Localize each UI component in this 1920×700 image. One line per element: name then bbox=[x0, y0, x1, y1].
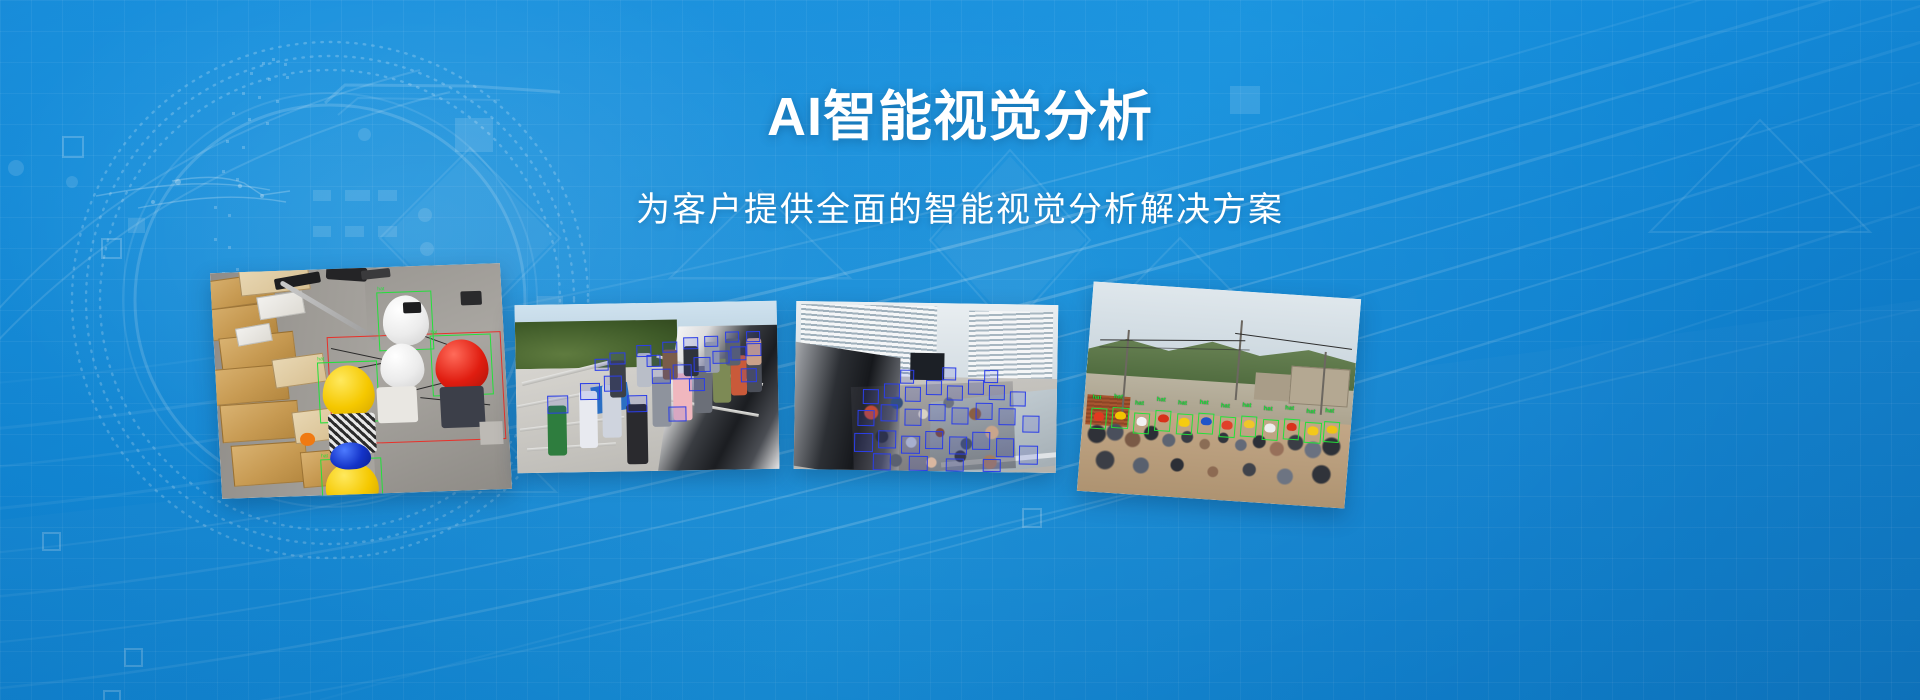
detection-box bbox=[1218, 416, 1236, 438]
face-detection-box bbox=[984, 369, 999, 383]
detection-label: hat bbox=[1178, 401, 1188, 409]
face-detection-box bbox=[741, 368, 757, 382]
station-platform-crowd-photo bbox=[794, 301, 1059, 473]
face-detection-box bbox=[928, 404, 945, 421]
detection-box bbox=[1323, 421, 1341, 443]
face-detection-box bbox=[1019, 446, 1038, 465]
detection-box bbox=[1111, 407, 1129, 429]
face-detection-box bbox=[746, 343, 762, 357]
face-detection-box bbox=[610, 352, 626, 365]
face-detection-box bbox=[662, 341, 678, 353]
face-detection-box bbox=[704, 335, 719, 346]
detection-label: hat bbox=[1135, 400, 1145, 408]
hero-banner: AI智能视觉分析 为客户提供全面的智能视觉分析解决方案 bbox=[0, 0, 1920, 700]
gallery-photo-card-2[interactable] bbox=[515, 301, 780, 474]
face-detection-box bbox=[989, 385, 1005, 400]
detection-box bbox=[1176, 413, 1194, 435]
outdoor-worksite-helmet-photo: hat hat hat hat hat hat hat hat hat hat … bbox=[1077, 281, 1361, 508]
face-detection-box bbox=[668, 406, 687, 421]
face-detection-box bbox=[604, 376, 623, 392]
face-detection-box bbox=[999, 408, 1016, 425]
face-detection-box bbox=[881, 405, 898, 422]
gallery-photo-card-3[interactable] bbox=[794, 301, 1059, 473]
face-detection-box bbox=[1022, 415, 1039, 432]
detection-label: hat bbox=[1156, 397, 1166, 405]
detection-label: hat bbox=[1285, 406, 1295, 414]
face-detection-box bbox=[863, 389, 879, 404]
detection-box bbox=[1133, 413, 1151, 435]
face-detection-box bbox=[712, 350, 729, 364]
face-detection-box bbox=[904, 408, 921, 425]
face-detection-box bbox=[594, 359, 609, 371]
face-detection-box bbox=[972, 431, 991, 450]
face-detection-box bbox=[942, 367, 957, 381]
face-detection-box bbox=[746, 331, 761, 342]
face-detection-box bbox=[646, 355, 661, 367]
photo-frame-2 bbox=[515, 301, 780, 474]
face-detection-box bbox=[872, 453, 891, 470]
photo-frame-3 bbox=[794, 301, 1059, 473]
face-detection-box bbox=[968, 379, 984, 394]
face-detection-box bbox=[926, 380, 942, 395]
face-detection-box bbox=[975, 403, 992, 420]
photo-gallery: hat hat hat hat bbox=[0, 0, 1920, 700]
face-detection-box bbox=[548, 395, 569, 414]
detection-box bbox=[1154, 410, 1172, 432]
face-detection-box bbox=[689, 378, 705, 392]
detection-box bbox=[1197, 413, 1215, 435]
detection-box bbox=[1304, 422, 1322, 444]
detection-label: hat bbox=[1242, 403, 1252, 411]
face-detection-box bbox=[901, 435, 920, 454]
face-detection-box bbox=[905, 387, 921, 402]
face-detection-box bbox=[878, 430, 897, 449]
face-detection-box bbox=[946, 458, 965, 472]
face-detection-box bbox=[725, 332, 740, 343]
face-detection-box bbox=[996, 438, 1015, 457]
face-detection-box bbox=[909, 456, 928, 471]
gallery-photo-card-4[interactable]: hat hat hat hat hat hat hat hat hat hat … bbox=[1077, 281, 1361, 508]
warehouse-helmet-detection-photo: hat hat hat hat bbox=[210, 263, 512, 499]
detection-label: hat bbox=[1263, 406, 1273, 414]
face-detection-box bbox=[730, 347, 746, 361]
face-detection-box bbox=[1010, 392, 1026, 407]
face-detection-box bbox=[683, 337, 699, 349]
face-detection-box bbox=[694, 357, 711, 372]
face-detection-box bbox=[854, 433, 873, 452]
face-detection-box bbox=[925, 431, 944, 450]
face-detection-box bbox=[627, 395, 647, 412]
detection-label: hat bbox=[1325, 408, 1335, 416]
detection-label: hat bbox=[1306, 409, 1316, 417]
photo-frame-4: hat hat hat hat hat hat hat hat hat hat … bbox=[1077, 281, 1361, 508]
face-detection-box bbox=[949, 436, 968, 455]
detection-box bbox=[1283, 418, 1301, 440]
detection-box bbox=[1090, 408, 1108, 430]
bridge-crowd-face-detection-photo bbox=[515, 301, 780, 474]
face-detection-box bbox=[900, 370, 915, 384]
face-detection-box bbox=[580, 383, 600, 400]
face-detection-box bbox=[857, 409, 874, 426]
face-detection-box bbox=[952, 408, 969, 425]
detection-label: hat bbox=[1092, 395, 1102, 403]
detection-label: hat bbox=[1199, 400, 1209, 408]
detection-box: hat bbox=[377, 290, 435, 351]
detection-box bbox=[1261, 419, 1279, 441]
detection-label: hat bbox=[1220, 404, 1230, 412]
detection-box bbox=[1240, 415, 1258, 437]
gallery-photo-card-1[interactable]: hat hat hat hat bbox=[210, 263, 512, 499]
face-detection-box bbox=[884, 383, 900, 398]
face-detection-box bbox=[652, 368, 671, 383]
photo-frame-1: hat hat hat hat bbox=[210, 263, 512, 499]
face-detection-box bbox=[947, 386, 963, 401]
face-detection-box bbox=[982, 458, 1001, 472]
detection-label: hat bbox=[1114, 394, 1124, 402]
